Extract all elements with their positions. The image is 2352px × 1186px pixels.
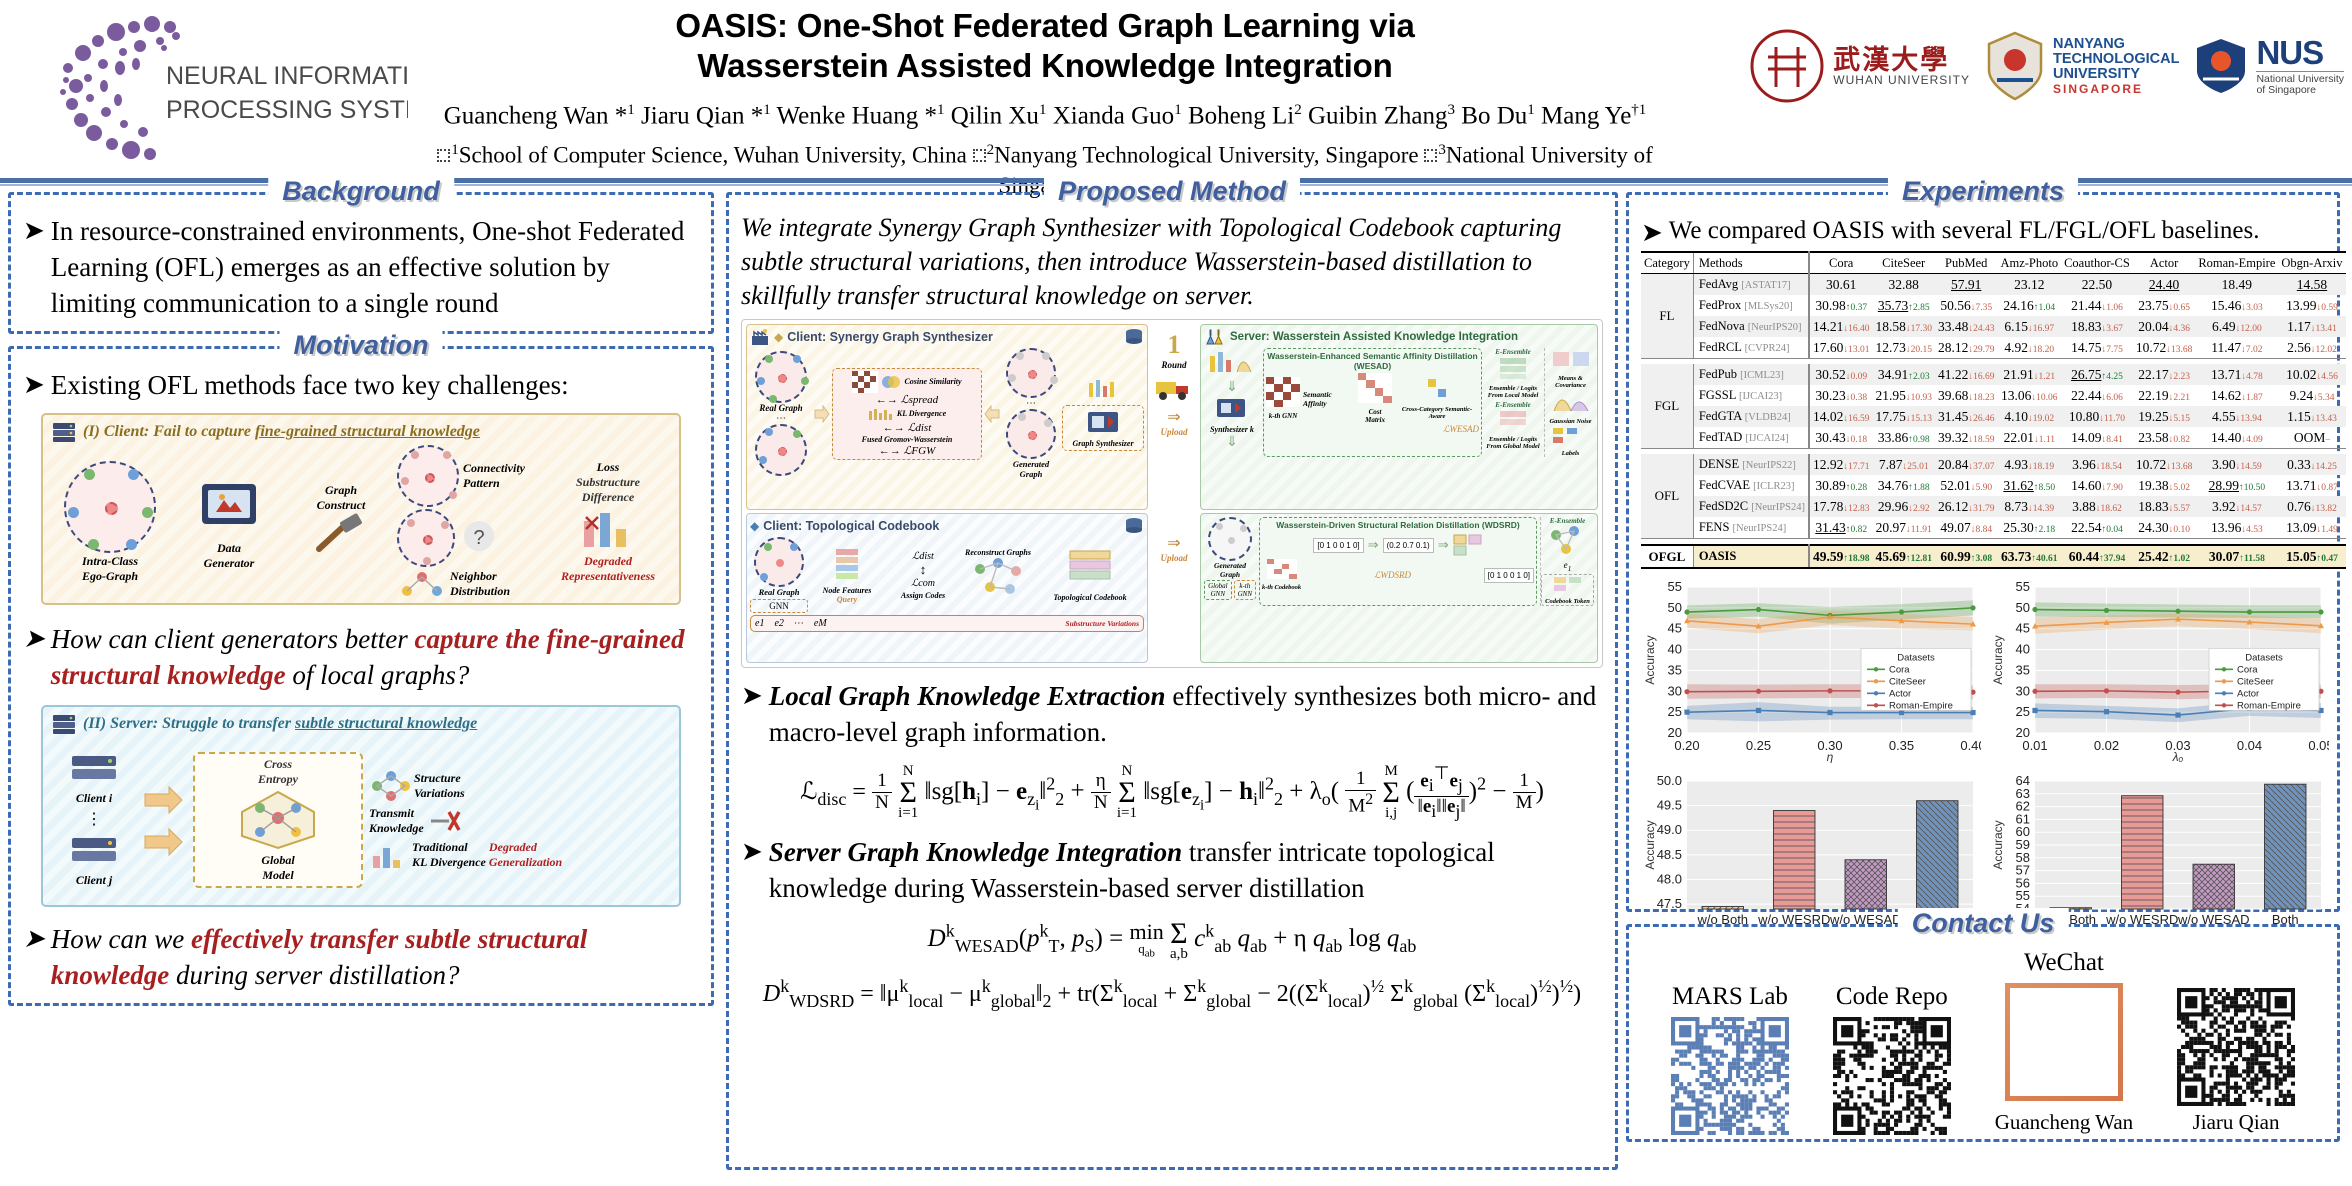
fig1-label-construct: GraphConstruct xyxy=(289,483,393,513)
svg-text:0.40: 0.40 xyxy=(1960,738,1981,753)
th-pubmed: PubMed xyxy=(1935,252,1998,274)
wdsrd-title: Wasserstein-Driven Structural Relation D… xyxy=(1262,520,1534,530)
table-value-cell: OOM– xyxy=(2278,427,2345,449)
svg-text:0.25: 0.25 xyxy=(1746,738,1771,753)
fig2-caption: (II) Server: Struggle to transfer subtle… xyxy=(83,715,477,733)
svg-text:Actor: Actor xyxy=(1889,688,1911,699)
svg-text:0.05: 0.05 xyxy=(2308,738,2329,753)
contact-panel: Contact Us MARS LabCode RepoWeChatGuanch… xyxy=(1626,924,2340,1142)
table-category-cell: OFGL xyxy=(1641,545,1693,568)
table-row[interactable]: FedTAD [IJCAI24]30.43↓0.1833.86↑0.9839.3… xyxy=(1641,427,2346,449)
table-value-cell: 4.55↓13.94 xyxy=(2195,406,2278,427)
table-value-cell: 22.19↓2.21 xyxy=(2133,385,2196,406)
p3-semantic-affinity-label: Semantic Affinity xyxy=(1303,390,1355,408)
table-value-cell: 23.12 xyxy=(1997,274,2061,296)
table-row[interactable]: OFGLOASIS49.59↑18.9845.69↑12.8160.99↑3.0… xyxy=(1641,545,2346,568)
table-value-cell: 52.01↓5.90 xyxy=(1935,475,1998,496)
table-value-cell: 33.48↓24.43 xyxy=(1935,316,1998,337)
title-block: OASIS: One-Shot Federated Graph Learning… xyxy=(400,6,1690,201)
table-value-cell: 26.12↓31.79 xyxy=(1935,496,1998,517)
poster-header: NEURAL INFORMATION PROCESSING SYSTEMS OA… xyxy=(0,0,2352,182)
fig2-label-transmit: TransmitKnowledge xyxy=(369,806,424,836)
table-row[interactable]: FLFedAvg [ASTAT17]30.6132.8857.9123.1222… xyxy=(1641,274,2346,296)
client-j-icon xyxy=(68,834,120,868)
wesad-title: Wasserstein-Enhanced Semantic Affinity D… xyxy=(1266,351,1479,371)
p2-lcom-label: ℒcom xyxy=(886,578,960,589)
university-logos: 武漢大學 WUHAN UNIVERSITY NANYANG TECHNOLOGI… xyxy=(1748,10,2344,122)
th-coauthorcs: Coauthor-CS xyxy=(2061,252,2133,274)
bullet-arrow-icon: ➤ xyxy=(741,834,763,906)
svg-text:45: 45 xyxy=(1668,621,1682,636)
bullet-arrow-icon: ➤ xyxy=(741,678,763,750)
svg-text:61: 61 xyxy=(2016,811,2030,826)
svg-text:30: 30 xyxy=(1668,683,1682,698)
table-value-cell: 21.95↓10.93 xyxy=(1872,385,1935,406)
table-value-cell: 13.09↓1.49 xyxy=(2278,517,2345,539)
table-row[interactable]: FedNova [NeurIPS20]14.21↓16.4018.58↓17.3… xyxy=(1641,316,2346,337)
svg-text:35: 35 xyxy=(2016,662,2030,677)
affil-marker-3 xyxy=(1424,149,1437,162)
round-number: 1 xyxy=(1151,330,1197,360)
table-value-cell: 14.02↓16.59 xyxy=(1809,406,1873,427)
svg-text:62: 62 xyxy=(2016,799,2030,814)
logits-local-icon xyxy=(1498,356,1528,380)
motivation-figure-2: (II) Server: Struggle to transfer subtle… xyxy=(41,705,681,907)
svg-text:0.35: 0.35 xyxy=(1889,738,1914,753)
method-point-1: ➤ Local Graph Knowledge Extraction effec… xyxy=(741,678,1603,750)
affil-marker-2 xyxy=(973,149,986,162)
svg-text:48.0: 48.0 xyxy=(1657,871,1682,886)
svg-text:25: 25 xyxy=(1668,704,1682,719)
point1-bold: Local Graph Knowledge Extraction xyxy=(769,681,1166,711)
p3-logits-local-label: Ensemble / Logits From Local Model xyxy=(1485,385,1541,399)
p2-eM-label: eM xyxy=(814,618,827,629)
method-point-2: ➤ Server Graph Knowledge Integration tra… xyxy=(741,834,1603,906)
svg-text:Roman-Empire: Roman-Empire xyxy=(1889,700,1953,711)
motivation-intro: ➤ Existing OFL methods face two key chal… xyxy=(23,367,699,403)
motivation-title: Motivation xyxy=(280,330,443,361)
author-list: Guancheng Wan *1 Jiaru Qian *1 Wenke Hua… xyxy=(400,94,1690,132)
experiments-bullet: ➤ We compared OASIS with several FL/FGL/… xyxy=(1641,215,2325,251)
fig2-label-structure-var: StructureVariations xyxy=(414,771,465,801)
question-1-text: How can client generators better capture… xyxy=(51,621,699,693)
table-value-cell: 39.68↓18.23 xyxy=(1935,385,1998,406)
contact-sub: Guancheng Wan xyxy=(1995,1110,2133,1135)
p3-knn2-label: k-th GNN xyxy=(1234,580,1256,600)
neurips-line2: PROCESSING SYSTEMS xyxy=(166,96,408,124)
svg-text:30: 30 xyxy=(2016,683,2030,698)
svg-text:56: 56 xyxy=(2016,875,2030,890)
table-value-cell: 10.72↓13.68 xyxy=(2133,337,2196,359)
table-method-cell: FedRCL [CVPR24] xyxy=(1693,337,1809,359)
table-category-cell: FL xyxy=(1641,274,1693,359)
table-value-cell: 17.60↓13.01 xyxy=(1809,337,1873,359)
semantic-affinity-matrix-icon xyxy=(1266,377,1300,407)
table-value-cell: 30.07↑11.58 xyxy=(2195,545,2278,568)
svg-text:Cora: Cora xyxy=(2237,664,2258,675)
table-value-cell: 22.50 xyxy=(2061,274,2133,296)
table-value-cell: 4.10↓19.02 xyxy=(1997,406,2061,427)
results-table: Category Methods Cora CiteSeer PubMed Am… xyxy=(1641,251,2346,569)
table-value-cell: 20.84↓37.07 xyxy=(1935,454,1998,475)
table-value-cell: 60.44↑37.94 xyxy=(2061,545,2133,568)
p1-fgw-label: Fused Gromov-Wasserstein xyxy=(836,435,978,444)
fig1-label-degraded: DegradedRepresentativeness xyxy=(545,554,671,584)
upload-label-2: Upload xyxy=(1151,553,1197,563)
table-row[interactable]: FGLFedPub [ICML23]30.52↓0.0934.91↑2.0341… xyxy=(1641,364,2346,385)
table-category-cell: FGL xyxy=(1641,364,1693,449)
chart-lambda: 20253035404550550.010.020.030.040.05Data… xyxy=(1989,577,2329,763)
point2-bold: Server Graph Knowledge Integration xyxy=(769,837,1182,867)
p2-e2-label: e2 xyxy=(774,618,783,629)
data-generator-icon xyxy=(192,474,266,536)
svg-text:60: 60 xyxy=(2016,824,2030,839)
database-icon xyxy=(1124,517,1144,535)
hammer-icon xyxy=(311,513,371,557)
bullet-arrow-icon: ➤ xyxy=(1641,215,1663,251)
table-row[interactable]: FedProx [MLSys20]30.98↑0.3735.73↑2.8550.… xyxy=(1641,295,2346,316)
table-method-cell: FENS [NeurIPS24] xyxy=(1693,517,1809,539)
p1-real-graph-label: Real Graph xyxy=(750,403,812,413)
mean-cov-icon xyxy=(1551,348,1591,370)
table-value-cell: 21.44↓1.06 xyxy=(2061,295,2133,316)
svg-text:Accuracy: Accuracy xyxy=(1991,635,2005,684)
contact-label: Code Repo xyxy=(1833,983,1951,1011)
table-value-cell: 30.61 xyxy=(1809,274,1873,296)
motivation-question-1: ➤ How can client generators better captu… xyxy=(23,621,699,693)
fig1-label-loss: Loss xyxy=(545,460,671,475)
table-row[interactable]: FedSD2C [NeurIPS24]17.78↓12.8329.96↓2.92… xyxy=(1641,496,2346,517)
chart-eta: 20253035404550550.200.250.300.350.40Data… xyxy=(1641,577,1981,763)
svg-text:25: 25 xyxy=(2016,704,2030,719)
background-bullet: ➤ In resource-constrained environments, … xyxy=(23,213,699,321)
fig2-label-degraded-gen: DegradedGeneralization xyxy=(489,840,562,870)
table-row[interactable]: FGSSL [IJCAI23]30.23↓0.3821.95↓10.9339.6… xyxy=(1641,385,2346,406)
arrow-right-icon xyxy=(143,778,185,858)
table-value-cell: 18.49 xyxy=(2195,274,2278,296)
table-value-cell: 25.30↑2.18 xyxy=(1997,517,2061,539)
th-citeseer: CiteSeer xyxy=(1872,252,1935,274)
table-value-cell: 60.99↑3.08 xyxy=(1935,545,1998,568)
table-value-cell: 1.17↓13.41 xyxy=(2278,316,2345,337)
nus-logo: NUS National Universityof Singapore xyxy=(2193,35,2344,97)
p3-mean-cov-label: Means & Covariance xyxy=(1547,375,1594,389)
neurips-line1: NEURAL INFORMATION xyxy=(166,62,408,90)
kl-icon xyxy=(868,407,894,421)
table-value-cell: 31.45↓26.46 xyxy=(1935,406,1998,427)
cosine-similarity-icon xyxy=(881,375,901,389)
svg-text:49.5: 49.5 xyxy=(1657,798,1682,813)
table-value-cell: 18.83↓3.67 xyxy=(2061,316,2133,337)
method-title: Proposed Method xyxy=(1044,176,1300,207)
table-header-row: Category Methods Cora CiteSeer PubMed Am… xyxy=(1641,252,2346,274)
table-value-cell: 32.88 xyxy=(1872,274,1935,296)
table-method-cell: FedProx [MLSys20] xyxy=(1693,295,1809,316)
motivation-question-2: ➤ How can we effectively transfer subtle… xyxy=(23,921,699,993)
background-panel: Background ➤ In resource-constrained env… xyxy=(8,192,714,334)
p3-ensemble-label-2: E-Ensemble xyxy=(1485,401,1541,409)
formula-wdsrd: DkWDSRD = ‖μklocal − μkglobal‖2 + tr(Σkl… xyxy=(741,976,1603,1012)
method-lead-text: We integrate Synergy Graph Synthesizer w… xyxy=(741,211,1603,313)
table-value-cell: 30.89↑0.28 xyxy=(1809,475,1873,496)
table-value-cell: 11.47↓7.02 xyxy=(2195,337,2278,359)
svg-text:55: 55 xyxy=(2016,888,2030,903)
table-method-cell: FedGTA [VLDB24] xyxy=(1693,406,1809,427)
svg-text:58: 58 xyxy=(2016,850,2030,865)
th-actor: Actor xyxy=(2133,252,2196,274)
th-romanempire: Roman-Empire xyxy=(2195,252,2278,274)
method-panel: Proposed Method We integrate Synergy Gra… xyxy=(726,192,1618,1170)
svg-text:40: 40 xyxy=(2016,642,2030,657)
sensitivity-charts: 20253035404550550.200.250.300.350.40Data… xyxy=(1641,577,2325,763)
table-value-cell: 31.62↑8.50 xyxy=(1997,475,2061,496)
p3-global-gnn-label: Global GNN xyxy=(1204,580,1232,600)
formula-disc: ℒdisc = 1N NΣi=1 ‖sg[hi] − ezi‖22 + ηN N… xyxy=(741,764,1603,822)
table-value-cell: 17.78↓12.83 xyxy=(1809,496,1873,517)
table-value-cell: 13.96↓4.53 xyxy=(2195,517,2278,539)
svg-text:0.01: 0.01 xyxy=(2022,738,2047,753)
table-value-cell: 49.59↑18.98 xyxy=(1809,545,1873,568)
table-value-cell: 10.02↓4.56 xyxy=(2278,364,2345,385)
table-value-cell: 8.73↓14.39 xyxy=(1997,496,2061,517)
table-value-cell: 57.91 xyxy=(1935,274,1998,296)
database-icon xyxy=(1124,328,1144,346)
table-value-cell: 22.54↑0.04 xyxy=(2061,517,2133,539)
table-method-cell: FedCVAE [ICLR23] xyxy=(1693,475,1809,496)
svg-text:63: 63 xyxy=(2016,786,2030,801)
contact-label: WeChat xyxy=(1995,949,2133,977)
table-method-cell: OASIS xyxy=(1693,545,1809,568)
table-value-cell: 15.05↑0.47 xyxy=(2278,545,2345,568)
fig2-label-traditional-kl: TraditionalKL Divergence xyxy=(412,840,486,870)
codebook-token-small-icon xyxy=(1553,575,1583,593)
bullet-arrow-icon: ➤ xyxy=(23,213,45,321)
table-value-cell: 2.56↓12.02 xyxy=(2278,337,2345,359)
th-amzphoto: Amz-Photo xyxy=(1997,252,2061,274)
bullet-arrow-icon: ➤ xyxy=(23,921,45,993)
p3-ensemble-label-3: E-Ensemble xyxy=(1541,517,1594,525)
svg-text:50: 50 xyxy=(2016,600,2030,615)
svg-text:57: 57 xyxy=(2016,863,2030,878)
p2-ldist-label: ℒdist xyxy=(886,551,960,562)
fig1-caption: (I) Client: Fail to capture fine-grained… xyxy=(83,423,480,441)
fig1-label-intraclass: Intra-ClassEgo-Graph xyxy=(51,554,169,584)
table-value-cell: 22.44↓6.06 xyxy=(2061,385,2133,406)
contact-item: MARS Lab xyxy=(1671,983,1789,1135)
p2-node-features-label: Node Features xyxy=(811,586,883,595)
p3-bits-1: [0 1 0 0 1 0] xyxy=(1313,538,1363,553)
question-2-text: How can we effectively transfer subtle s… xyxy=(51,921,699,993)
table-value-cell: 20.04↓4.36 xyxy=(2133,316,2196,337)
svg-text:0.20: 0.20 xyxy=(1674,738,1699,753)
table-value-cell: 10.80↓11.70 xyxy=(2061,406,2133,427)
table-value-cell: 19.38↓5.02 xyxy=(2133,475,2196,496)
table-row[interactable]: FedCVAE [ICLR23]30.89↑0.2834.76↑1.8852.0… xyxy=(1641,475,2346,496)
table-value-cell: 14.75↓7.75 xyxy=(2061,337,2133,359)
p3-labels-label: Labels xyxy=(1547,450,1594,457)
table-value-cell: 50.56↓7.35 xyxy=(1935,295,1998,316)
qr-code[interactable] xyxy=(1671,1017,1789,1135)
table-value-cell: 17.75↓15.13 xyxy=(1872,406,1935,427)
contact-sub: Jiaru Qian xyxy=(2177,1110,2295,1135)
table-value-cell: 31.43↑0.82 xyxy=(1809,517,1873,539)
table-value-cell: 12.73↓20.15 xyxy=(1872,337,1935,359)
svg-text:35: 35 xyxy=(1668,662,1682,677)
formula-wesad: DkWESAD(pkT, pS) = minqab Σa,b ckab qab … xyxy=(741,920,1603,962)
table-value-cell: 9.24↓5.34 xyxy=(2278,385,2345,406)
p1-ldist: ℒdist xyxy=(907,422,931,434)
svg-text:55: 55 xyxy=(2016,579,2030,594)
table-value-cell: 20.97↓11.91 xyxy=(1872,517,1935,539)
svg-text:Roman-Empire: Roman-Empire xyxy=(2237,700,2301,711)
svg-text:Actor: Actor xyxy=(2237,688,2259,699)
kl-divergence-icon xyxy=(369,840,409,870)
table-value-cell: 10.72↓13.68 xyxy=(2133,454,2196,475)
qr-code[interactable] xyxy=(2177,988,2295,1106)
p3-cross-cat-label: Cross-Category Semantic-Aware xyxy=(1395,406,1479,420)
arrow-left-icon xyxy=(984,405,1000,423)
codebook-matrix-icon xyxy=(1267,559,1297,579)
whu-logo: 武漢大學 WUHAN UNIVERSITY xyxy=(1748,27,1970,105)
table-value-cell: 18.83↓5.57 xyxy=(2133,496,2196,517)
table-value-cell: 26.75↑4.25 xyxy=(2061,364,2133,385)
table-row[interactable]: OFLDENSE [NeurIPS22]12.92↓17.717.87↓25.0… xyxy=(1641,454,2346,475)
table-value-cell: 15.46↓3.03 xyxy=(2195,295,2278,316)
table-method-cell: DENSE [NeurIPS22] xyxy=(1693,454,1809,475)
l-wdsrd-label: ℒWDSRD xyxy=(1374,570,1411,581)
contact-item: Code Repo xyxy=(1833,983,1951,1135)
table-value-cell: 30.43↓0.18 xyxy=(1809,427,1873,449)
table-value-cell: 3.90↓14.59 xyxy=(2195,454,2278,475)
bullet-arrow-icon: ➤ xyxy=(23,367,45,403)
fig1-label-generator: DataGenerator xyxy=(173,541,285,571)
svg-text:45: 45 xyxy=(2016,621,2030,636)
codebook-token-icon xyxy=(1453,533,1483,557)
table-value-cell: 33.86↑0.98 xyxy=(1872,427,1935,449)
qr-code[interactable] xyxy=(1833,1017,1951,1135)
table-row[interactable]: FedRCL [CVPR24]17.60↓13.0112.73↓20.1528.… xyxy=(1641,337,2346,359)
fig2-label-client-i: Client i xyxy=(51,791,137,806)
svg-text:CiteSeer: CiteSeer xyxy=(1889,676,1926,687)
th-cora: Cora xyxy=(1809,252,1873,274)
left-column: Background ➤ In resource-constrained env… xyxy=(0,192,722,1182)
table-row[interactable]: FENS [NeurIPS24]31.43↑0.8220.97↓11.9149.… xyxy=(1641,517,2346,539)
svg-text:48.5: 48.5 xyxy=(1657,847,1682,862)
structure-variations-icon xyxy=(369,770,411,802)
fig1-label-substructure: SubstructureDifference xyxy=(545,475,671,505)
table-value-cell: 30.52↓0.09 xyxy=(1809,364,1873,385)
synthesizer-icon xyxy=(1086,408,1120,434)
table-method-cell: FedSD2C [NeurIPS24] xyxy=(1693,496,1809,517)
fig2-label-cross-entropy: CrossEntropy xyxy=(198,757,358,787)
table-value-cell: 41.22↓16.69 xyxy=(1935,364,1998,385)
blocked-icon xyxy=(427,806,461,836)
p1-lfgw: ℒFGW xyxy=(904,445,936,457)
question-mark-icon: ? xyxy=(459,518,499,554)
p2-codebook-label: Topological Codebook xyxy=(1036,593,1144,602)
experiments-panel: Experiments ➤ We compared OASIS with sev… xyxy=(1626,192,2340,912)
right-column: Experiments ➤ We compared OASIS with sev… xyxy=(1622,192,2348,1182)
l-wesad-label: ℒWESAD xyxy=(1266,424,1479,435)
histogram-icon xyxy=(1086,377,1120,399)
table-value-cell: 23.75↓0.65 xyxy=(2133,295,2196,316)
svg-text:40: 40 xyxy=(1668,642,1682,657)
gaussian-noise-icon xyxy=(1551,389,1591,413)
table-value-cell: 23.58↓0.82 xyxy=(2133,427,2196,449)
cross-category-icon xyxy=(1426,377,1448,401)
table-method-cell: FedPub [ICML23] xyxy=(1693,364,1809,385)
p3-bits-2: [0 1 0 0 1 0] xyxy=(1484,568,1534,583)
th-methods: Methods xyxy=(1693,252,1809,274)
bullet-arrow-icon: ➤ xyxy=(23,621,45,693)
table-value-cell: 6.49↓12.00 xyxy=(2195,316,2278,337)
svg-text:50: 50 xyxy=(1668,600,1682,615)
p1-lspread: ℒspread xyxy=(901,394,938,406)
table-value-cell: 14.40↓4.09 xyxy=(2195,427,2278,449)
svg-text:λₒ: λₒ xyxy=(2172,750,2184,763)
table-value-cell: 24.30↓0.10 xyxy=(2133,517,2196,539)
svg-text:Datasets: Datasets xyxy=(2245,652,2283,663)
p3-codebook-k-label: k-th Codebook xyxy=(1262,584,1301,591)
svg-text:0.04: 0.04 xyxy=(2237,738,2262,753)
table-value-cell: 3.92↓14.57 xyxy=(2195,496,2278,517)
svg-text:Accuracy: Accuracy xyxy=(1991,820,2005,869)
factory-icon xyxy=(750,328,770,346)
table-value-cell: 29.96↓2.92 xyxy=(1872,496,1935,517)
table-value-cell: 24.40 xyxy=(2133,274,2196,296)
server-icon xyxy=(51,713,77,735)
table-value-cell: 24.16↑1.04 xyxy=(1997,295,2061,316)
p2-assign-codes-label: Assign Codes xyxy=(886,591,960,600)
svg-text:Accuracy: Accuracy xyxy=(1643,635,1657,684)
p2-reconstruct-label: Reconstruct Graphs xyxy=(963,548,1033,557)
p2-substructure-label: Substructure Variations xyxy=(1065,619,1139,628)
svg-text:CiteSeer: CiteSeer xyxy=(2237,676,2274,687)
p2-gnn-label: GNN xyxy=(750,599,808,613)
neurips-logo: NEURAL INFORMATION PROCESSING SYSTEMS xyxy=(28,8,408,166)
table-method-cell: FGSSL [IJCAI23] xyxy=(1693,385,1809,406)
qr-code[interactable] xyxy=(2010,988,2118,1096)
table-value-cell: 22.17↓2.23 xyxy=(2133,364,2196,385)
table-row[interactable]: FedGTA [VLDB24]14.02↓16.5917.75↓15.1331.… xyxy=(1641,406,2346,427)
p1-cosine-label: Cosine Similarity xyxy=(904,377,961,386)
th-obgnarxiv: Obgn-Arxiv xyxy=(2278,252,2345,274)
svg-text:η: η xyxy=(1827,750,1834,763)
final-graph-icon xyxy=(1546,525,1590,555)
contact-item: WeChatGuancheng Wan xyxy=(1995,949,2133,1135)
logits-global-icon xyxy=(1498,409,1528,431)
table-value-cell: 49.07↓8.84 xyxy=(1935,517,1998,539)
poster-root: NEURAL INFORMATION PROCESSING SYSTEMS OA… xyxy=(0,0,2352,1186)
fig2-label-client-j: Client j xyxy=(51,873,137,888)
p3-vec: (0.2 0.7 0.1) xyxy=(1383,538,1434,553)
background-title: Background xyxy=(268,176,454,207)
upload-label-1: Upload xyxy=(1151,427,1197,437)
svg-text:?: ? xyxy=(473,527,484,549)
table-value-cell: 6.15↓16.97 xyxy=(1997,316,2061,337)
table-value-cell: 13.71↓0.87 xyxy=(2278,475,2345,496)
table-value-cell: 25.42↑1.02 xyxy=(2133,545,2196,568)
svg-text:Cora: Cora xyxy=(1889,664,1910,675)
contact-item: Jiaru Qian xyxy=(2177,954,2295,1135)
table-category-cell: OFL xyxy=(1641,454,1693,539)
svg-text:Datasets: Datasets xyxy=(1897,652,1935,663)
background-text: In resource-constrained environments, On… xyxy=(51,213,699,321)
wechat-qr-frame[interactable] xyxy=(2005,983,2123,1101)
p3-generated-graph-label: Generated Graph xyxy=(1204,561,1256,579)
panel3-title: Server: Wasserstein Assisted Knowledge I… xyxy=(1230,331,1518,343)
table-value-cell: 14.60↓7.90 xyxy=(2061,475,2133,496)
